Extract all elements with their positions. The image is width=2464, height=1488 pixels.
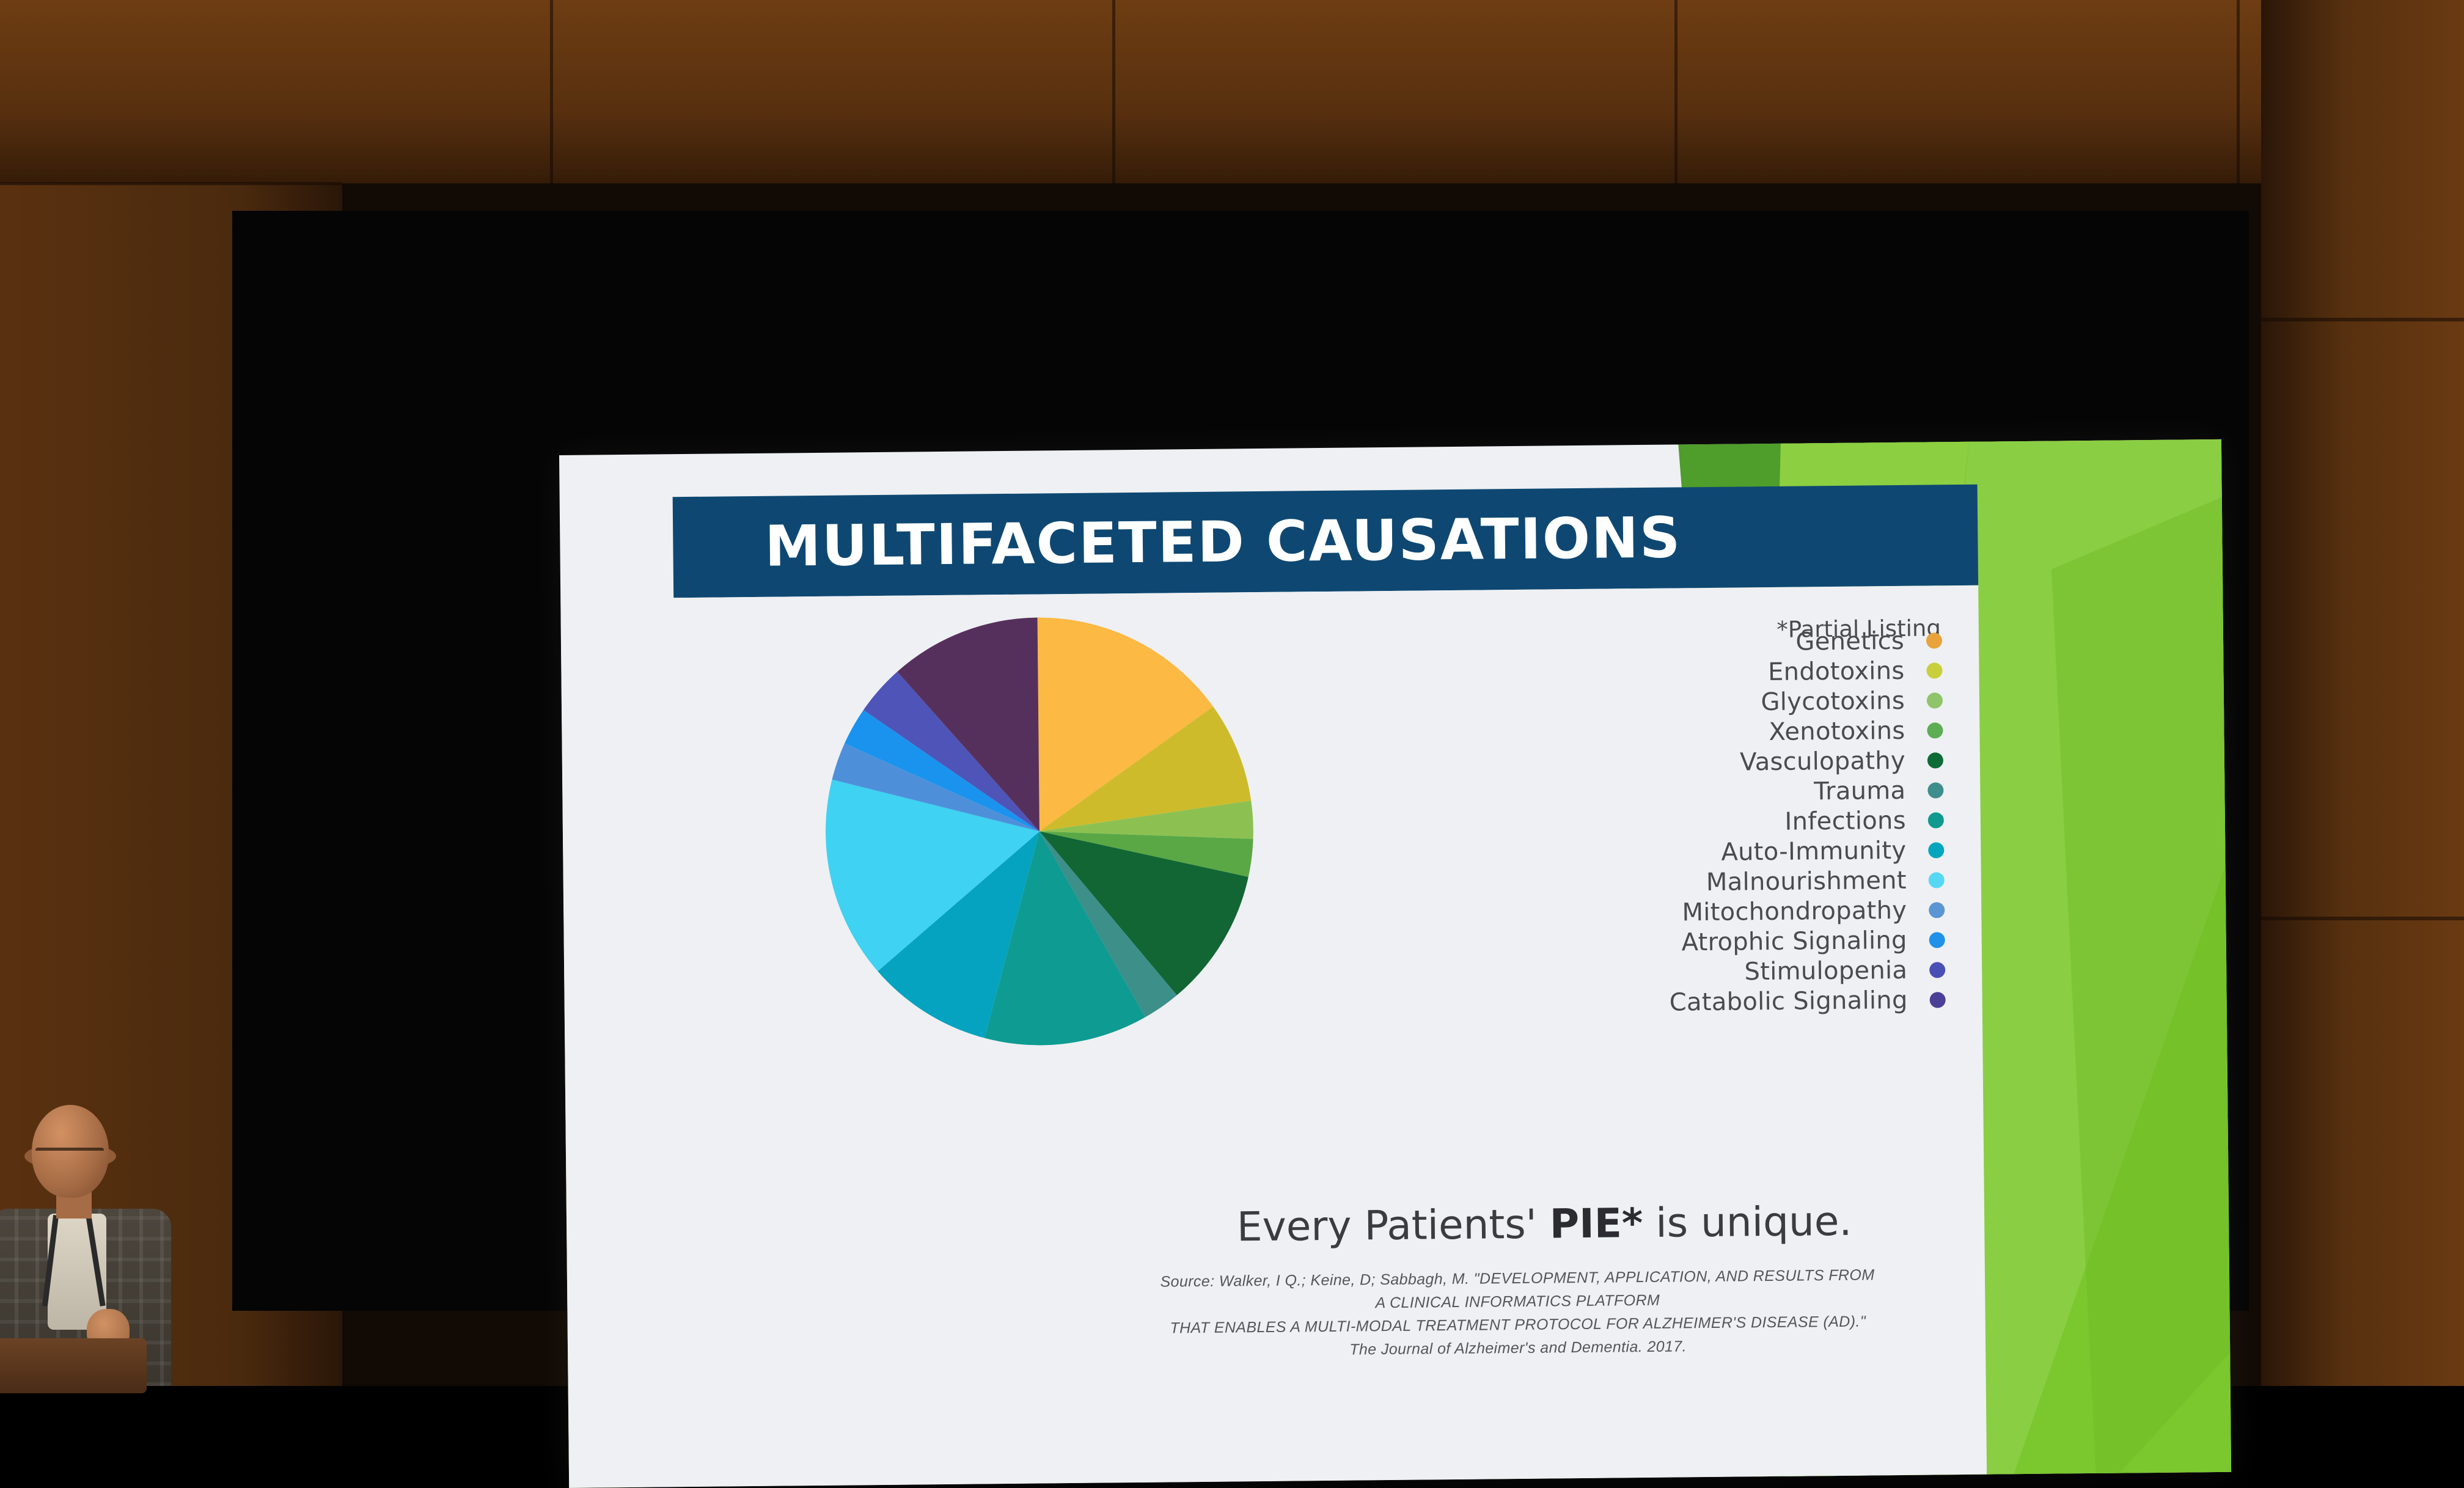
slide-title-bar: MULTIFACETED CAUSATIONS [673, 485, 1978, 598]
podium [0, 1338, 147, 1393]
source-citation: Source: Walker, I Q.; Keine, D; Sabbagh,… [1050, 1263, 1986, 1365]
legend-item-label: Malnourishment [1706, 866, 1907, 896]
legend-item-label: Mitochondropathy [1682, 896, 1907, 926]
wall-seam [2237, 0, 2240, 183]
wall-seam [0, 182, 342, 185]
legend-item: Stimulopenia [1407, 955, 1945, 989]
legend-item-label: Auto-Immunity [1721, 836, 1906, 866]
legend-item: Endotoxins [1404, 655, 1942, 690]
legend-color-dot [1929, 902, 1945, 918]
legend-item: Malnourishment [1407, 865, 1945, 900]
slide-content-panel: GeneticsEndotoxinsGlycotoxinsXenotoxinsV… [560, 585, 1987, 1488]
legend-color-dot [1927, 782, 1943, 798]
wall-seam [1674, 0, 1678, 183]
legend-item: Genetics [1404, 625, 1942, 660]
presenter-glasses [35, 1148, 104, 1164]
legend-item-label: Trauma [1814, 776, 1906, 805]
presentation-slide: MULTIFACETED CAUSATIONS GeneticsEndotoxi… [559, 439, 2231, 1488]
legend-color-dot [1928, 842, 1944, 858]
legend-item-label: Infections [1784, 806, 1906, 835]
tagline-prefix: Every Patients' [1237, 1201, 1538, 1251]
tagline-suffix: is unique. [1656, 1198, 1852, 1247]
legend-color-dot [1926, 632, 1942, 648]
legend-item: Mitochondropathy [1407, 895, 1945, 929]
wall-seam [2261, 917, 2464, 920]
legend-color-dot [1927, 752, 1943, 768]
wall-seam [1112, 0, 1115, 183]
legend-item: Glycotoxins [1405, 685, 1943, 720]
legend-item-label: Atrophic Signaling [1681, 926, 1907, 956]
legend-item-label: Glycotoxins [1761, 686, 1905, 716]
wall-seam [550, 0, 553, 183]
presenter-speaker [0, 1076, 202, 1386]
tagline: Every Patients' PIE* is unique. [1104, 1197, 1985, 1252]
legend-color-dot [1926, 662, 1942, 678]
legend-item: Infections [1406, 805, 1944, 840]
legend-item: Atrophic Signaling [1407, 925, 1945, 959]
chart-legend: GeneticsEndotoxinsGlycotoxinsXenotoxinsV… [1404, 625, 1946, 1019]
legend-item: Auto-Immunity [1406, 835, 1944, 870]
legend-color-dot [1929, 872, 1945, 888]
legend-item: Catabolic Signaling [1407, 984, 1945, 1019]
legend-item: Trauma [1406, 775, 1943, 810]
legend-item: Xenotoxins [1405, 715, 1943, 750]
legend-color-dot [1930, 992, 1946, 1008]
pie-chart [824, 615, 1256, 1047]
legend-color-dot [1928, 812, 1944, 828]
legend-color-dot [1929, 962, 1945, 978]
tagline-emphasis: PIE* [1549, 1200, 1643, 1247]
legend-color-dot [1929, 932, 1945, 948]
wall-panel-right [2261, 0, 2464, 1386]
wall-panel-top [0, 0, 2464, 183]
legend-color-dot [1927, 692, 1943, 708]
projection-screen: MULTIFACETED CAUSATIONS GeneticsEndotoxi… [232, 211, 2249, 1311]
legend-item-label: Catabolic Signaling [1670, 986, 1908, 1016]
legend-item-label: Genetics [1795, 626, 1904, 656]
page-title: MULTIFACETED CAUSATIONS [765, 505, 1682, 579]
legend-item-label: Vasculopathy [1740, 746, 1905, 776]
legend-item-label: Stimulopenia [1744, 956, 1907, 986]
legend-item: Vasculopathy [1406, 745, 1943, 780]
legend-item-label: Xenotoxins [1769, 716, 1905, 746]
legend-color-dot [1927, 722, 1943, 738]
legend-item-label: Endotoxins [1768, 656, 1905, 686]
wall-seam [2261, 318, 2464, 321]
